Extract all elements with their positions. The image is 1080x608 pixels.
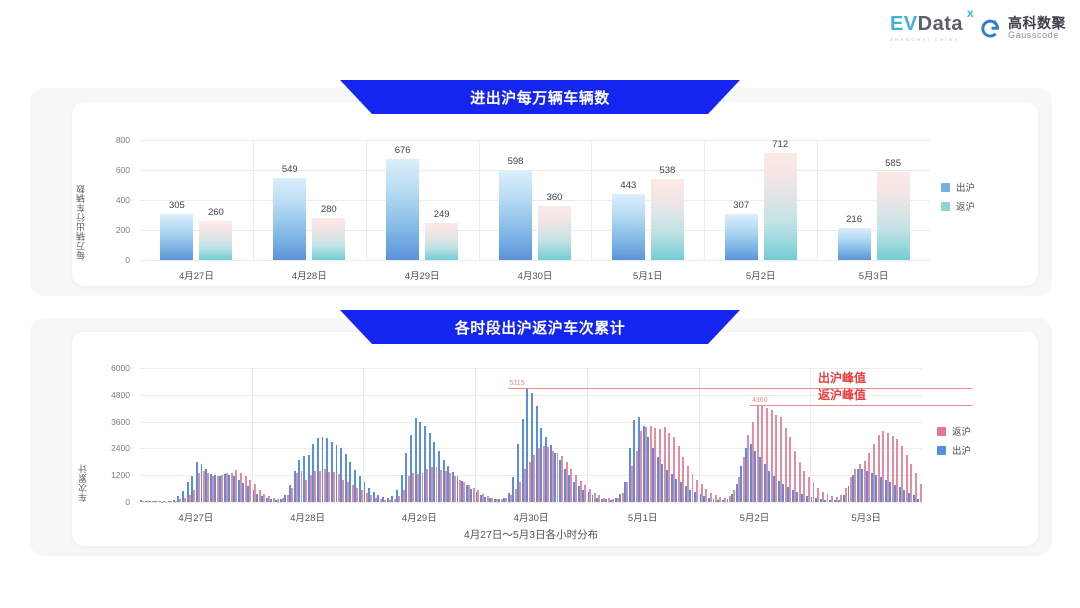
chart1-ytick: 800: [98, 135, 130, 145]
chart1-bar-返沪: [764, 153, 797, 260]
chart1-bar-value: 307: [733, 200, 749, 211]
chart2-legend-label: 出沪: [952, 443, 971, 457]
evdata-superscript-icon: x: [967, 7, 974, 19]
chart1-title-banner: 进出沪每万辆车辆数: [340, 80, 740, 114]
chart1-xtick: 5月2日: [746, 268, 776, 282]
chart1-bar-出沪: [612, 194, 645, 260]
chart2-xtick: 4月27日: [178, 510, 213, 524]
chart2-title: 各时段出沪返沪车次累计: [455, 317, 626, 338]
chart2-xtick: 5月3日: [851, 510, 881, 524]
chart2-peak-line-0: [508, 388, 972, 389]
chart1-bar-value: 538: [659, 165, 675, 176]
chart2-peak-value-1: 4360: [752, 397, 768, 404]
chart2-xtick: 4月30日: [514, 510, 549, 524]
gausscode-name-cn: 高科数聚: [1008, 16, 1066, 31]
chart1-legend-item-出沪[interactable]: 出沪: [941, 180, 975, 194]
chart1-legend-item-返沪[interactable]: 返沪: [941, 199, 975, 213]
chart2-ytick: 3600: [98, 417, 130, 427]
chart1-ytick: 600: [98, 165, 130, 175]
chart1-bar-出沪: [499, 170, 532, 260]
chart1-plot-area: 0200400600800每万辆出行车辆数3052604月27日5492804月…: [140, 140, 930, 260]
chart1-title: 进出沪每万辆车辆数: [470, 87, 610, 108]
chart2-title-banner: 各时段出沪返沪车次累计: [340, 310, 740, 344]
evdata-tagline: SHANGHAI CHINA: [890, 37, 960, 42]
chart1-bar-value: 549: [282, 164, 298, 175]
chart2-legend-item-出沪[interactable]: 出沪: [937, 443, 971, 457]
chart1-bar-出沪: [160, 214, 193, 260]
chart2-ytick: 1200: [98, 470, 130, 480]
chart1-bar-出沪: [386, 159, 419, 260]
legend-swatch-icon: [937, 446, 946, 455]
chart2-peak-label-1: 返沪峰值: [818, 386, 866, 403]
chart1-xtick: 4月29日: [405, 268, 440, 282]
chart1-ytick: 0: [98, 255, 130, 265]
chart2-peak-value-0: 5115: [510, 380, 525, 387]
chart1-bar-出沪: [838, 228, 871, 260]
page-root: EVDatax SHANGHAI CHINA 高科数聚 Gausscode 进出…: [0, 0, 1080, 608]
chart1-bar-返沪: [538, 206, 571, 260]
chart2-plot-area: 012002400360048006000车次累计4月27日4月28日4月29日…: [140, 368, 922, 502]
chart2-legend-label: 返沪: [952, 424, 971, 438]
chart1-legend-label: 返沪: [956, 199, 975, 213]
chart1-bar-value: 260: [208, 207, 224, 218]
gausscode-logo: 高科数聚 Gausscode: [979, 16, 1066, 40]
chart2-xtick: 5月1日: [628, 510, 658, 524]
chart1-bar-value: 712: [772, 139, 788, 150]
chart1-bar-value: 585: [885, 158, 901, 169]
legend-swatch-icon: [941, 183, 950, 192]
chart2-xtick: 5月2日: [740, 510, 770, 524]
chart1-ytick: 400: [98, 195, 130, 205]
gausscode-mark-icon: [979, 17, 1002, 40]
chart1-legend-label: 出沪: [956, 180, 975, 194]
chart1-xtick: 5月1日: [633, 268, 663, 282]
chart1-bar-value: 280: [321, 204, 337, 215]
evdata-part2: Data: [918, 13, 963, 35]
chart1-bar-返沪: [312, 218, 345, 260]
chart1-bar-value: 676: [395, 145, 411, 156]
evdata-wordmark: EVDatax: [890, 14, 963, 34]
evdata-part1: EV: [890, 13, 918, 35]
chart2-ylabel: 车次累计: [76, 368, 89, 502]
chart1-legend: 出沪返沪: [941, 180, 975, 213]
chart1-bar-返沪: [199, 221, 232, 260]
chart2-legend: 返沪出沪: [937, 424, 971, 457]
chart1-xtick: 4月28日: [292, 268, 327, 282]
chart2-ytick: 6000: [98, 363, 130, 373]
chart2-ytick: 4800: [98, 390, 130, 400]
chart2-peak-label-0: 出沪峰值: [818, 369, 866, 386]
chart2-xtick: 4月29日: [402, 510, 437, 524]
chart1-bar-出沪: [725, 214, 758, 260]
chart2-xaxis-caption: 4月27日～5月3日各小时分布: [464, 527, 598, 542]
chart1-bar-value: 443: [620, 180, 636, 191]
legend-swatch-icon: [941, 202, 950, 211]
chart1-bar-出沪: [273, 178, 306, 260]
chart2-xtick: 4月28日: [290, 510, 325, 524]
chart1-xtick: 5月3日: [859, 268, 889, 282]
gausscode-name-en: Gausscode: [1008, 31, 1066, 40]
chart1-bar-value: 598: [508, 156, 524, 167]
chart1-xtick: 4月27日: [179, 268, 214, 282]
brand-logo-bar: EVDatax SHANGHAI CHINA 高科数聚 Gausscode: [890, 14, 1066, 42]
legend-swatch-icon: [937, 427, 946, 436]
chart2-ytick: 2400: [98, 443, 130, 453]
chart1-ytick: 200: [98, 225, 130, 235]
chart1-bar-value: 360: [547, 192, 563, 203]
chart2-ytick: 0: [98, 497, 130, 507]
gausscode-text: 高科数聚 Gausscode: [1008, 16, 1066, 40]
chart1-xtick: 4月30日: [518, 268, 553, 282]
chart1-bar-返沪: [425, 223, 458, 260]
chart2-peak-line-1: [750, 405, 972, 406]
chart1-bar-value: 216: [846, 214, 862, 225]
chart2-legend-item-返沪[interactable]: 返沪: [937, 424, 971, 438]
chart1-bar-value: 305: [169, 200, 185, 211]
chart1-ylabel: 每万辆出行车辆数: [74, 140, 87, 260]
chart1-bar-返沪: [651, 179, 684, 260]
chart1-bar-value: 249: [434, 209, 450, 220]
chart2-bar-back: [920, 484, 922, 502]
chart2-bar-back: [915, 473, 917, 502]
chart1-bar-返沪: [877, 172, 910, 260]
evdata-logo: EVDatax SHANGHAI CHINA: [890, 14, 963, 42]
